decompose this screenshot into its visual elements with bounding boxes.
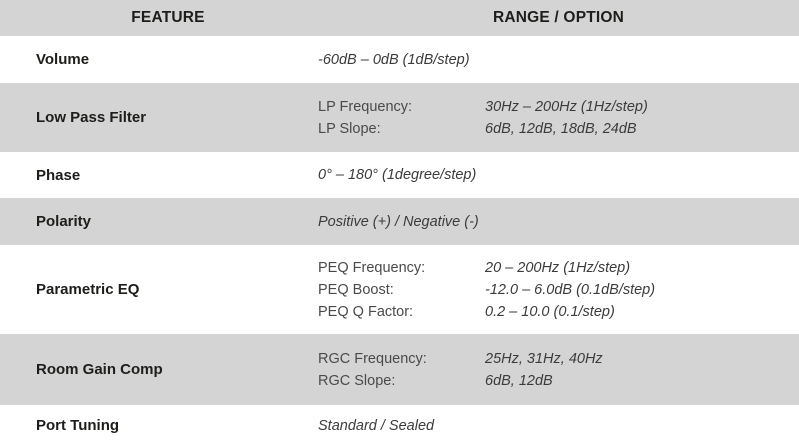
- sub-item: LP Slope:6dB, 12dB, 18dB, 24dB: [318, 118, 648, 140]
- feature-label: Low Pass Filter: [0, 83, 300, 152]
- table-row: Phase0° – 180° (1degree/step): [0, 152, 799, 198]
- feature-label: Room Gain Comp: [0, 334, 300, 405]
- sub-item: RGC Frequency:25Hz, 31Hz, 40Hz: [318, 348, 603, 370]
- range-option-cell: 0° – 180° (1degree/step): [300, 152, 799, 198]
- sub-item-label: PEQ Boost:: [318, 279, 485, 301]
- table-row: Low Pass FilterLP Frequency:30Hz – 200Hz…: [0, 83, 799, 152]
- table-row: Volume-60dB – 0dB (1dB/step): [0, 36, 799, 83]
- range-option-cell: RGC Frequency:25Hz, 31Hz, 40HzRGC Slope:…: [300, 334, 799, 405]
- sub-item-label: RGC Slope:: [318, 370, 485, 392]
- range-option-cell: -60dB – 0dB (1dB/step): [300, 36, 799, 83]
- sub-item-label: LP Frequency:: [318, 96, 485, 118]
- table-header: FEATURE RANGE / OPTION: [0, 0, 799, 36]
- range-option-cell: Standard / Sealed: [300, 405, 799, 446]
- table-row: Port TuningStandard / Sealed: [0, 405, 799, 446]
- sub-item-value: 25Hz, 31Hz, 40Hz: [485, 348, 603, 370]
- column-header-feature: FEATURE: [0, 0, 300, 36]
- sub-item-value: 0.2 – 10.0 (0.1/step): [485, 301, 655, 323]
- sub-item: PEQ Q Factor:0.2 – 10.0 (0.1/step): [318, 301, 655, 323]
- feature-label: Parametric EQ: [0, 245, 300, 334]
- table-body: Volume-60dB – 0dB (1dB/step)Low Pass Fil…: [0, 36, 799, 446]
- range-option-cell: LP Frequency:30Hz – 200Hz (1Hz/step)LP S…: [300, 83, 799, 152]
- sub-item-value: 6dB, 12dB: [485, 370, 603, 392]
- sub-item-value: 6dB, 12dB, 18dB, 24dB: [485, 118, 648, 140]
- range-option-value: Positive (+) / Negative (-): [318, 214, 799, 230]
- sub-item: RGC Slope:6dB, 12dB: [318, 370, 603, 392]
- table-header-row: FEATURE RANGE / OPTION: [0, 0, 799, 36]
- sub-item-label: PEQ Frequency:: [318, 257, 485, 279]
- feature-label: Volume: [0, 36, 300, 83]
- column-header-range-option: RANGE / OPTION: [300, 0, 799, 36]
- table-row: Parametric EQPEQ Frequency:20 – 200Hz (1…: [0, 245, 799, 334]
- feature-label: Port Tuning: [0, 405, 300, 446]
- sub-item: PEQ Boost:-12.0 – 6.0dB (0.1dB/step): [318, 279, 655, 301]
- specification-table: FEATURE RANGE / OPTION Volume-60dB – 0dB…: [0, 0, 799, 446]
- sub-item-value: 20 – 200Hz (1Hz/step): [485, 257, 655, 279]
- sub-item-list: LP Frequency:30Hz – 200Hz (1Hz/step)LP S…: [318, 96, 648, 140]
- sub-item-label: LP Slope:: [318, 118, 485, 140]
- feature-label: Phase: [0, 152, 300, 198]
- table-row: Room Gain CompRGC Frequency:25Hz, 31Hz, …: [0, 334, 799, 405]
- table-row: PolarityPositive (+) / Negative (-): [0, 198, 799, 245]
- range-option-cell: Positive (+) / Negative (-): [300, 198, 799, 245]
- sub-item-list: PEQ Frequency:20 – 200Hz (1Hz/step)PEQ B…: [318, 257, 655, 323]
- sub-item-list: RGC Frequency:25Hz, 31Hz, 40HzRGC Slope:…: [318, 348, 603, 392]
- sub-item-value: 30Hz – 200Hz (1Hz/step): [485, 96, 648, 118]
- range-option-value: -60dB – 0dB (1dB/step): [318, 52, 799, 68]
- feature-label: Polarity: [0, 198, 300, 245]
- range-option-value: 0° – 180° (1degree/step): [318, 167, 799, 183]
- sub-item-value: -12.0 – 6.0dB (0.1dB/step): [485, 279, 655, 301]
- sub-item-label: RGC Frequency:: [318, 348, 485, 370]
- sub-item-label: PEQ Q Factor:: [318, 301, 485, 323]
- range-option-cell: PEQ Frequency:20 – 200Hz (1Hz/step)PEQ B…: [300, 245, 799, 334]
- sub-item: LP Frequency:30Hz – 200Hz (1Hz/step): [318, 96, 648, 118]
- sub-item: PEQ Frequency:20 – 200Hz (1Hz/step): [318, 257, 655, 279]
- range-option-value: Standard / Sealed: [318, 418, 799, 434]
